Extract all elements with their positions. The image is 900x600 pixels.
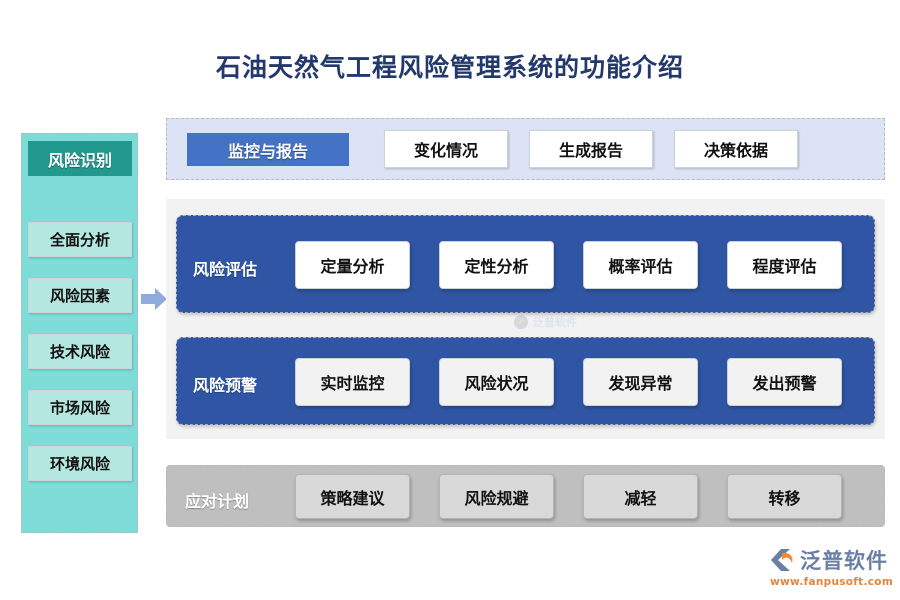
card-risk-avoidance[interactable]: 风险规避 [439,474,554,519]
diagram-canvas: 石油天然气工程风险管理系统的功能介绍 风险识别 全面分析 风险因素 技术风险 市… [0,0,900,600]
logo-row: 泛普软件 [770,545,890,575]
row-label-risk-assessment: 风险评估 [193,256,257,280]
card-risk-status[interactable]: 风险状况 [439,358,554,406]
card-detect-anomaly[interactable]: 发现异常 [583,358,698,406]
monitoring-report-row: 监控与报告 变化情况 生成报告 决策依据 [166,118,885,180]
assessment-warning-container: 风险评估 定量分析 定性分析 概率评估 程度评估 泛普软件 风险预警 实时监控 … [166,199,885,439]
watermark-text: 泛普软件 [533,314,577,330]
card-change-status[interactable]: 变化情况 [384,130,508,168]
card-degree-assessment[interactable]: 程度评估 [727,241,842,289]
risk-assessment-row: 风险评估 定量分析 定性分析 概率评估 程度评估 泛普软件 [176,215,875,313]
card-issue-warning[interactable]: 发出预警 [727,358,842,406]
card-decision-basis[interactable]: 决策依据 [674,130,798,168]
card-probability-assessment[interactable]: 概率评估 [583,241,698,289]
card-transfer[interactable]: 转移 [727,474,842,519]
row-label-monitoring-report[interactable]: 监控与报告 [187,133,349,166]
card-quantitative-analysis[interactable]: 定量分析 [295,241,410,289]
logo-name: 泛普软件 [800,545,888,575]
sidebar-header: 风险识别 [28,141,132,176]
brand-logo: 泛普软件 www.fanpusoft.com [770,545,890,587]
row-label-risk-warning: 风险预警 [193,372,257,396]
risk-warning-row: 风险预警 实时监控 风险状况 发现异常 发出预警 [176,337,875,425]
watermark-logo-icon [513,314,529,330]
sidebar-item-technical-risk[interactable]: 技术风险 [28,334,132,369]
card-realtime-monitoring[interactable]: 实时监控 [295,358,410,406]
right-arrow-icon [141,286,167,312]
fanpu-swoosh-icon [770,548,796,572]
card-qualitative-analysis[interactable]: 定性分析 [439,241,554,289]
risk-identification-sidebar: 风险识别 全面分析 风险因素 技术风险 市场风险 环境风险 [21,133,138,533]
sidebar-item-market-risk[interactable]: 市场风险 [28,390,132,425]
response-plan-row: 应对计划 策略建议 风险规避 减轻 转移 [166,465,885,527]
sidebar-item-environmental-risk[interactable]: 环境风险 [28,446,132,481]
card-strategy-suggestion[interactable]: 策略建议 [295,474,410,519]
logo-url: www.fanpusoft.com [770,576,890,588]
sidebar-item-risk-factors[interactable]: 风险因素 [28,278,132,313]
watermark: 泛普软件 [513,312,633,332]
card-mitigation[interactable]: 减轻 [583,474,698,519]
sidebar-item-comprehensive-analysis[interactable]: 全面分析 [28,222,132,257]
card-generate-report[interactable]: 生成报告 [529,130,653,168]
page-title: 石油天然气工程风险管理系统的功能介绍 [0,48,900,84]
row-label-response-plan: 应对计划 [185,488,249,512]
